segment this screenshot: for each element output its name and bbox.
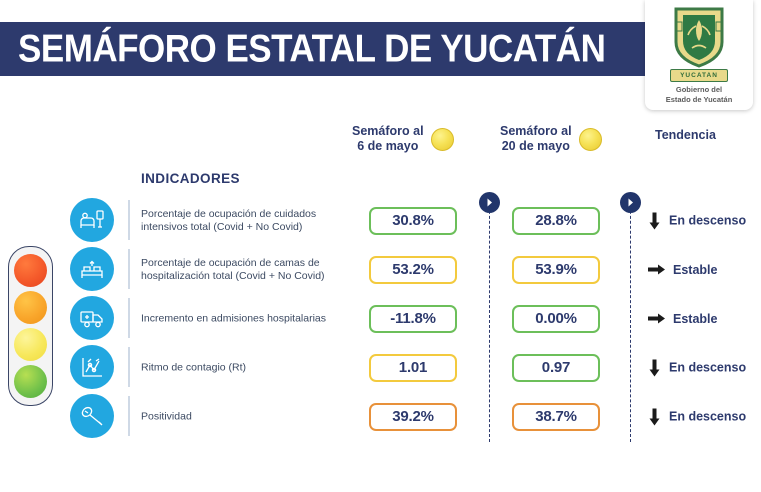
header-bar: SEMÁFORO ESTATAL DE YUCATÁN (0, 22, 711, 76)
indicators-heading: INDICADORES (141, 171, 240, 186)
trend-label: En descenso (669, 214, 746, 228)
trend-label: Estable (673, 263, 717, 277)
column-header-tendencia-label: Tendencia (655, 128, 716, 143)
table-row: Ritmo de contagio (Rt) 1.01 0.97 En desc… (0, 343, 761, 392)
trend-label: En descenso (669, 410, 746, 424)
trend-cell: Estable (648, 312, 717, 326)
column-header-may-20: Semáforo al 20 de mayo (500, 124, 602, 154)
trend-cell: En descenso (648, 359, 746, 376)
value-may-6-text: 39.2% (392, 408, 434, 425)
arrow-right-icon (648, 263, 665, 276)
column-header-may-6-label: Semáforo al 6 de mayo (352, 124, 424, 154)
divider-chevron-right-icon-2 (620, 192, 641, 213)
trend-cell: En descenso (648, 408, 746, 425)
column-header-tendencia: Tendencia (655, 128, 716, 143)
divider-chevron-right-icon-1 (479, 192, 500, 213)
value-may-6: 1.01 (369, 354, 457, 382)
page-title: SEMÁFORO ESTATAL DE YUCATÁN (0, 27, 605, 72)
row-separator (128, 396, 130, 436)
logo-banner-text: YUCATAN (680, 72, 718, 79)
value-may-6: 30.8% (369, 207, 457, 235)
arrow-right-icon (648, 312, 665, 325)
value-may-6: -11.8% (369, 305, 457, 333)
row-label: Porcentaje de ocupación de camas de hosp… (141, 257, 336, 283)
logo-subtitle: Gobierno del Estado de Yucatán (666, 85, 733, 104)
value-may-20-text: 38.7% (535, 408, 577, 425)
yucatan-coat-of-arms-icon (672, 6, 726, 68)
icu-bed-icon (70, 198, 114, 242)
value-may-20: 53.9% (512, 256, 600, 284)
trend-label: Estable (673, 312, 717, 326)
hospital-bed-icon (70, 247, 114, 291)
logo-subtitle-line1: Gobierno del (666, 85, 733, 95)
value-may-6-text: 1.01 (399, 359, 427, 376)
row-label: Porcentaje de ocupación de cuidados inte… (141, 208, 336, 234)
table-row: Porcentaje de ocupación de camas de hosp… (0, 245, 761, 294)
table-row: Porcentaje de ocupación de cuidados inte… (0, 196, 761, 245)
arrow-down-icon (648, 359, 661, 376)
column-header-may-20-label: Semáforo al 20 de mayo (500, 124, 572, 154)
value-may-20: 0.00% (512, 305, 600, 333)
row-label: Positividad (141, 410, 336, 423)
trend-cell: En descenso (648, 212, 746, 229)
value-may-6: 39.2% (369, 403, 457, 431)
column-headers: Semáforo al 6 de mayo Semáforo al 20 de … (0, 124, 761, 166)
value-may-20-text: 28.8% (535, 212, 577, 229)
row-separator (128, 249, 130, 289)
arrow-down-icon (648, 212, 661, 229)
row-separator (128, 347, 130, 387)
value-may-6-text: 53.2% (392, 261, 434, 278)
value-may-20: 28.8% (512, 207, 600, 235)
value-may-20-text: 53.9% (535, 261, 577, 278)
table-row: Positividad 39.2% 38.7% En descenso (0, 392, 761, 441)
ambulance-icon (70, 296, 114, 340)
indicators-table: Porcentaje de ocupación de cuidados inte… (0, 196, 761, 441)
row-label: Incremento en admisiones hospitalarias (141, 312, 336, 325)
value-may-20-text: 0.00% (535, 310, 577, 327)
table-row: Incremento en admisiones hospitalarias -… (0, 294, 761, 343)
arrow-down-icon (648, 408, 661, 425)
trend-label: En descenso (669, 361, 746, 375)
trend-cell: Estable (648, 263, 717, 277)
value-may-6-text: 30.8% (392, 212, 434, 229)
column-header-may-20-light-icon (579, 128, 602, 151)
swab-test-icon (70, 394, 114, 438)
value-may-20: 38.7% (512, 403, 600, 431)
value-may-20-text: 0.97 (542, 359, 570, 376)
row-separator (128, 200, 130, 240)
value-may-6: 53.2% (369, 256, 457, 284)
value-may-6-text: -11.8% (390, 310, 436, 327)
government-logo: YUCATAN Gobierno del Estado de Yucatán (645, 0, 753, 110)
row-label: Ritmo de contagio (Rt) (141, 361, 336, 374)
contagion-chart-icon (70, 345, 114, 389)
column-header-may-6: Semáforo al 6 de mayo (352, 124, 454, 154)
logo-banner: YUCATAN (670, 69, 728, 82)
value-may-20: 0.97 (512, 354, 600, 382)
row-separator (128, 298, 130, 338)
column-header-may-6-light-icon (431, 128, 454, 151)
logo-subtitle-line2: Estado de Yucatán (666, 95, 733, 105)
